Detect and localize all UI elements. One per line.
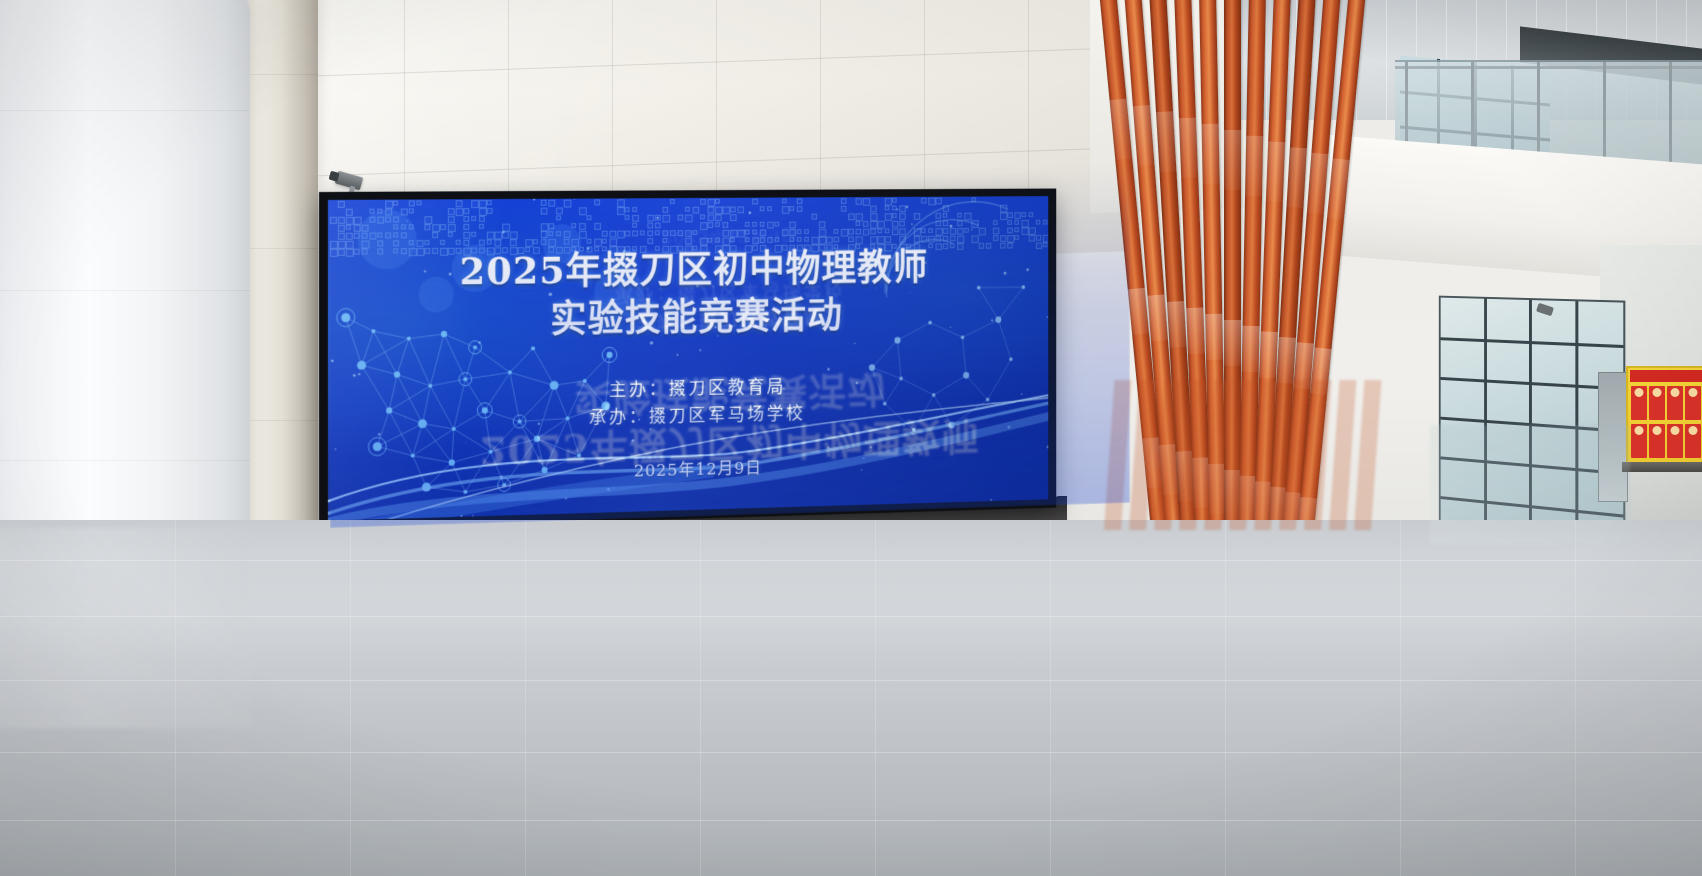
floor-joint	[350, 520, 351, 876]
slat-reflection-bar	[1229, 380, 1256, 530]
slat-highlight	[1224, 320, 1241, 366]
notice-board-portrait	[1667, 424, 1683, 458]
floor-joint	[0, 820, 1702, 821]
balustrade-post	[1603, 62, 1606, 172]
slat-highlight	[1242, 326, 1260, 372]
led-screen-reflection: 2025年掇刀区初中物理教师 实验技能竞赛活动 主办：掇刀区教育局 承办：掇刀区…	[330, 163, 1130, 528]
curtain-transom	[1441, 377, 1624, 390]
floor-joint	[1225, 520, 1226, 876]
floor-joint	[1400, 520, 1401, 876]
reflection-content: 2025年掇刀区初中物理教师 实验技能竞赛活动 主办：掇刀区教育局 承办：掇刀区…	[330, 163, 1130, 528]
slat-highlight	[1276, 337, 1296, 384]
slat-highlight	[1148, 294, 1168, 341]
slat-reflection-bar	[1354, 380, 1381, 530]
notice-board-portrait	[1631, 424, 1647, 458]
curtain-transom	[1441, 337, 1624, 348]
notice-board-portrait	[1667, 386, 1683, 420]
slat-reflection-bar	[1129, 380, 1156, 530]
slat-highlight	[1167, 301, 1187, 348]
slat-highlight	[1205, 314, 1223, 360]
polished-floor	[0, 520, 1702, 876]
floor-joint	[0, 616, 1702, 617]
slat-highlight	[1266, 142, 1285, 203]
slat-highlight	[1128, 288, 1149, 335]
reflection-date: 2025年12月9日	[662, 224, 799, 253]
column-seam	[0, 290, 250, 291]
notice-board-header	[1630, 370, 1702, 382]
slat-highlight	[1110, 99, 1133, 160]
slat-highlight	[1327, 158, 1350, 219]
lobby-photo-scene: 2025年掇刀区初中物理教师 实验技能竞赛活动 主办：掇刀区教育局 承办：掇刀区…	[0, 0, 1702, 876]
floor-joint	[0, 680, 1702, 681]
slat-reflection-bar	[1304, 380, 1331, 530]
floor-joint	[700, 520, 701, 876]
balustrade-post	[1669, 62, 1672, 172]
floor-gloss	[0, 520, 1702, 876]
glass-wall-reflection	[1430, 425, 1630, 545]
slat-highlight	[1286, 147, 1306, 208]
slat-reflection-bar	[1329, 380, 1356, 530]
column-reflection	[0, 528, 250, 728]
notice-board-portrait	[1649, 386, 1665, 420]
notice-board-portrait	[1649, 424, 1665, 458]
slat-reflection-bar	[1279, 380, 1306, 530]
round-column-primary	[0, 0, 250, 550]
column-seam	[0, 110, 250, 111]
slat-reflection	[1100, 380, 1440, 530]
slat-highlight	[1245, 136, 1263, 196]
bench	[1622, 462, 1702, 472]
notice-board-portrait	[1631, 386, 1647, 420]
slat-reflection-bar	[1154, 380, 1181, 530]
floor-joint	[1050, 520, 1051, 876]
reflection-organizers: 主办：掇刀区教育局 承办：掇刀区军马场学校	[615, 273, 846, 336]
slat-highlight	[1156, 111, 1176, 172]
slat-highlight	[1259, 331, 1278, 378]
slat-reflection-bar	[1204, 380, 1231, 530]
slat-highlight	[1179, 118, 1198, 179]
notice-board-portrait	[1685, 424, 1701, 458]
slat-highlight	[1202, 124, 1220, 184]
floor-joint	[0, 752, 1702, 753]
notice-board	[1626, 366, 1702, 470]
floor-joint	[875, 520, 876, 876]
slat-reflection-bar	[1179, 380, 1206, 530]
notice-board-portrait	[1685, 386, 1701, 420]
column-seam	[0, 460, 250, 461]
reflection-title: 2025年掇刀区初中物理教师 实验技能竞赛活动	[480, 361, 980, 475]
floor-joint	[525, 520, 526, 876]
slat-reflection-bar	[1254, 380, 1281, 530]
slat-highlight	[1186, 307, 1205, 354]
floor-joint	[1575, 520, 1576, 876]
slat-highlight	[1307, 153, 1329, 214]
notice-board-row	[1631, 424, 1701, 458]
slat-highlight	[1224, 130, 1241, 190]
floor-joint	[0, 560, 1702, 561]
notice-board-row	[1631, 386, 1701, 420]
balustrade-handrail	[1395, 66, 1702, 69]
slat-highlight	[1133, 105, 1155, 166]
